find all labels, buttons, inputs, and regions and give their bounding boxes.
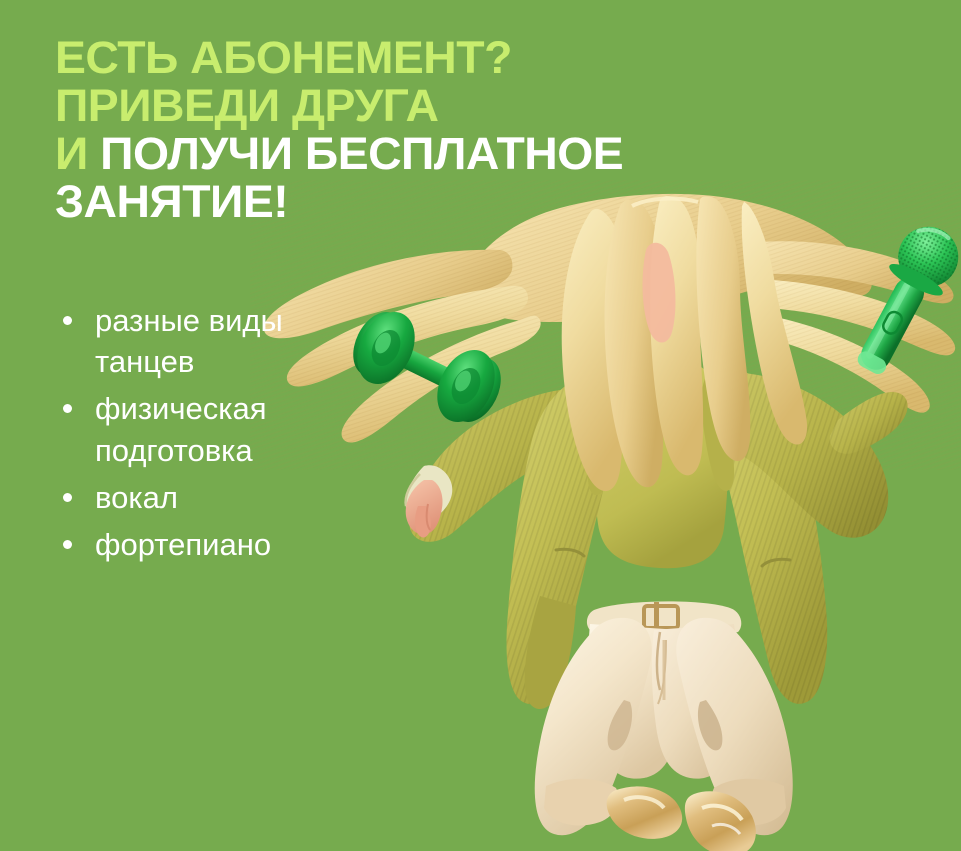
microphone-icon bbox=[836, 218, 961, 398]
headline-line-4: ЗАНЯТИЕ! bbox=[55, 180, 776, 224]
offer-list: разные виды танцев физическая подготовка… bbox=[55, 300, 385, 571]
headline-line-1: ЕСТЬ АБОНЕМЕНТ? bbox=[55, 36, 776, 80]
list-item: вокал bbox=[55, 477, 385, 518]
bullet-dot-icon bbox=[63, 540, 72, 549]
bullet-dot-icon bbox=[63, 404, 72, 413]
cardigan-body bbox=[507, 364, 828, 709]
headline-line-2: ПРИВЕДИ ДРУГА bbox=[55, 84, 776, 128]
headline-line-3-lime: И bbox=[55, 128, 88, 179]
shoes bbox=[607, 786, 756, 851]
bullet-dot-icon bbox=[63, 316, 72, 325]
list-item-label: физическая подготовка bbox=[95, 391, 267, 467]
torso-top bbox=[594, 357, 728, 569]
face-sliver bbox=[643, 243, 676, 343]
trousers bbox=[535, 618, 793, 835]
promo-banner: ЕСТЬ АБОНЕМЕНТ? ПРИВЕДИ ДРУГА И ПОЛУЧИ Б… bbox=[0, 0, 961, 851]
list-item: разные виды танцев bbox=[55, 300, 385, 382]
headline: ЕСТЬ АБОНЕМЕНТ? ПРИВЕДИ ДРУГА И ПОЛУЧИ Б… bbox=[55, 36, 755, 228]
list-item: физическая подготовка bbox=[55, 388, 385, 470]
headline-line-3: И ПОЛУЧИ БЕСПЛАТНОЕ bbox=[55, 132, 776, 176]
belt bbox=[587, 601, 741, 638]
list-item-label: вокал bbox=[95, 480, 178, 515]
list-item-label: разные виды танцев bbox=[95, 303, 283, 379]
list-item: фортепиано bbox=[55, 524, 385, 565]
list-item-label: фортепиано bbox=[95, 527, 271, 562]
bullet-dot-icon bbox=[63, 493, 72, 502]
left-hand bbox=[406, 480, 443, 537]
hair-front bbox=[562, 196, 807, 491]
headline-line-3-white: ПОЛУЧИ БЕСПЛАТНОЕ bbox=[100, 128, 623, 179]
